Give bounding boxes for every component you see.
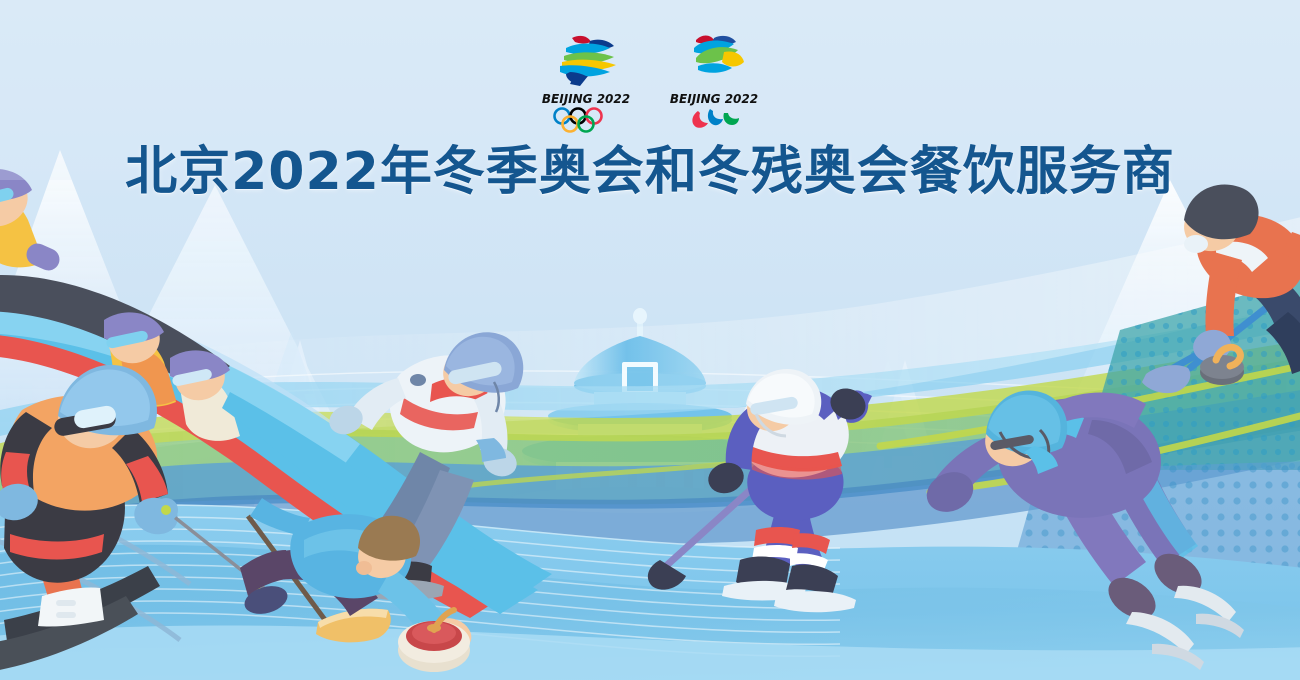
page-title-wrap: 北京2022年冬季奥会和冬残奥会餐饮服务商 (0, 142, 1300, 202)
page-title: 北京2022年冬季奥会和冬残奥会餐饮服务商 (125, 142, 1175, 202)
paralympic-emblem: BEIJING 2022 (664, 32, 764, 136)
olympic-emblem-symbol (536, 32, 636, 88)
paralympic-emblem-symbol (664, 32, 764, 88)
paralympic-agitos-icon (664, 107, 764, 133)
emblem-row: BEIJING 2022 (0, 32, 1300, 137)
paralympic-wordmark: BEIJING 2022 (664, 90, 764, 106)
banner-stage: BEIJING 2022 (0, 0, 1300, 680)
svg-text:BEIJING 2022: BEIJING 2022 (670, 92, 758, 106)
olympic-emblem: BEIJING 2022 (536, 32, 636, 136)
olympic-wordmark: BEIJING 2022 (536, 90, 636, 106)
svg-text:BEIJING 2022: BEIJING 2022 (542, 92, 630, 106)
olympic-rings-icon (536, 107, 636, 133)
